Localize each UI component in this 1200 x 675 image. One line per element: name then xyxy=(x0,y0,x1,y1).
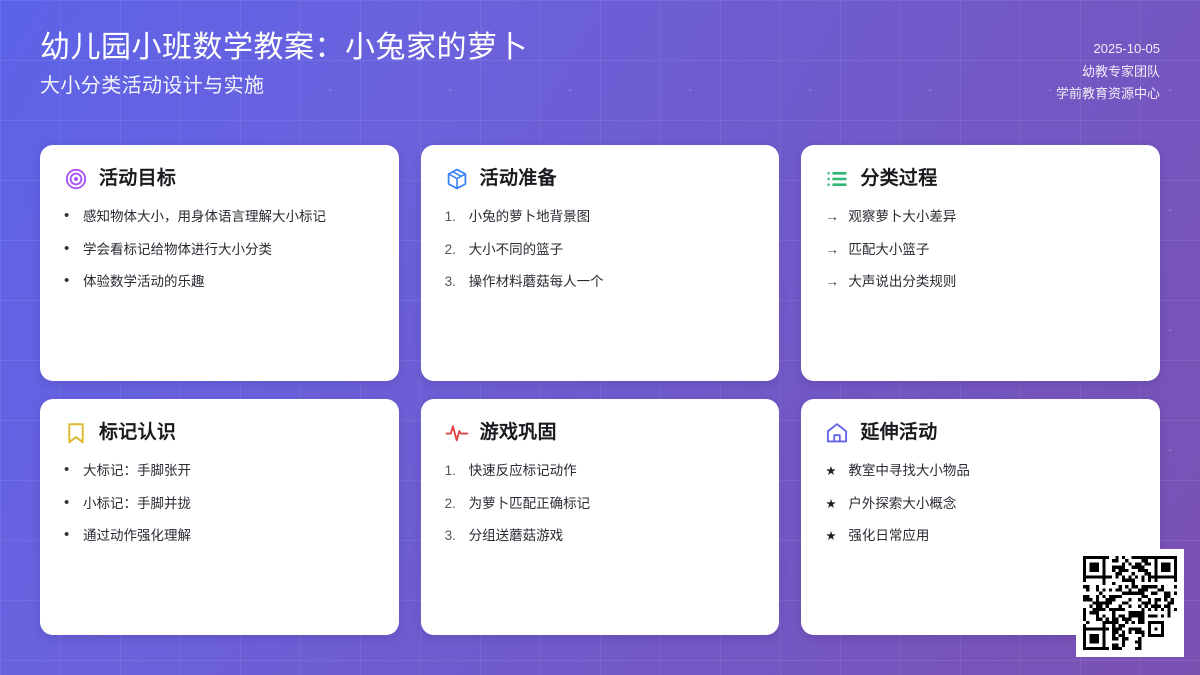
card-item-list: ★ 教室中寻找大小物品 ★ 户外探索大小概念 ★ 强化日常应用 xyxy=(825,461,1136,546)
card-classification-process[interactable]: 分类过程 → 观察萝卜大小差异 → 匹配大小篮子 → 大声说出分类规则 xyxy=(801,145,1160,381)
card-item-list: → 观察萝卜大小差异 → 匹配大小篮子 → 大声说出分类规则 xyxy=(825,207,1136,292)
bullet-marker: • xyxy=(64,462,74,477)
header-meta: 2025-10-05 幼教专家团队 学前教育资源中心 xyxy=(1056,28,1160,103)
card-header: 活动准备 xyxy=(445,167,756,191)
list-item-text: 学会看标记给物体进行大小分类 xyxy=(83,240,375,260)
list-item-text: 观察萝卜大小差异 xyxy=(848,207,1136,227)
list-item-text: 小标记：手脚并拢 xyxy=(83,494,375,514)
bullet-marker: → xyxy=(825,207,839,227)
list-item: 3. 分组送蘑菇游戏 xyxy=(445,526,756,546)
list-item: • 大标记：手脚张开 xyxy=(64,461,375,481)
bullet-marker: • xyxy=(64,527,74,542)
list-item-text: 教室中寻找大小物品 xyxy=(848,461,1136,481)
card-game-consolidation[interactable]: 游戏巩固 1. 快速反应标记动作 2. 为萝卜匹配正确标记 3. 分组送蘑菇游戏 xyxy=(421,399,780,635)
meta-date: 2025-10-05 xyxy=(1094,40,1161,58)
title-block: 幼儿园小班数学教案：小兔家的萝卜 大小分类活动设计与实施 xyxy=(40,28,528,99)
list-item-text: 户外探索大小概念 xyxy=(848,494,1136,514)
list-item: • 学会看标记给物体进行大小分类 xyxy=(64,240,375,260)
list-item: → 匹配大小篮子 xyxy=(825,240,1136,260)
list-item: • 小标记：手脚并拢 xyxy=(64,494,375,514)
bullet-marker: 2. xyxy=(445,240,460,260)
list-item-text: 大声说出分类规则 xyxy=(848,272,1136,292)
bullet-marker: 1. xyxy=(445,461,460,481)
bullet-marker: ★ xyxy=(825,462,839,480)
card-activity-preparation[interactable]: 活动准备 1. 小兔的萝卜地背景图 2. 大小不同的篮子 3. 操作材料蘑菇每人… xyxy=(421,145,780,381)
bullet-marker: 1. xyxy=(445,207,460,227)
bullet-marker: → xyxy=(825,272,839,292)
bullet-marker: → xyxy=(825,240,839,260)
list-item: 2. 大小不同的篮子 xyxy=(445,240,756,260)
card-item-list: 1. 快速反应标记动作 2. 为萝卜匹配正确标记 3. 分组送蘑菇游戏 xyxy=(445,461,756,546)
card-item-list: • 大标记：手脚张开 • 小标记：手脚并拢 • 通过动作强化理解 xyxy=(64,461,375,546)
card-header: 分类过程 xyxy=(825,167,1136,191)
card-header: 延伸活动 xyxy=(825,421,1136,445)
list-item-text: 大标记：手脚张开 xyxy=(83,461,375,481)
list-item: • 体验数学活动的乐趣 xyxy=(64,272,375,292)
slide-header: 幼儿园小班数学教案：小兔家的萝卜 大小分类活动设计与实施 2025-10-05 … xyxy=(0,0,1200,132)
activity-pulse-icon xyxy=(445,421,469,445)
card-header: 标记认识 xyxy=(64,421,375,445)
list-item-text: 感知物体大小，用身体语言理解大小标记 xyxy=(83,207,375,227)
card-header: 活动目标 xyxy=(64,167,375,191)
list-item: ★ 户外探索大小概念 xyxy=(825,494,1136,514)
card-item-list: 1. 小兔的萝卜地背景图 2. 大小不同的篮子 3. 操作材料蘑菇每人一个 xyxy=(445,207,756,292)
list-item-text: 通过动作强化理解 xyxy=(83,526,375,546)
card-title: 分类过程 xyxy=(860,168,937,191)
list-item: • 通过动作强化理解 xyxy=(64,526,375,546)
list-item: → 观察萝卜大小差异 xyxy=(825,207,1136,227)
card-title: 标记认识 xyxy=(99,422,176,445)
bullet-marker: ★ xyxy=(825,527,839,545)
page-title: 幼儿园小班数学教案：小兔家的萝卜 xyxy=(40,28,528,67)
card-item-list: • 感知物体大小，用身体语言理解大小标记 • 学会看标记给物体进行大小分类 • … xyxy=(64,207,375,292)
list-item-text: 体验数学活动的乐趣 xyxy=(83,272,375,292)
card-title: 游戏巩固 xyxy=(480,422,557,445)
bullet-marker: 3. xyxy=(445,526,460,546)
card-title: 延伸活动 xyxy=(860,422,937,445)
bullet-marker: • xyxy=(64,208,74,223)
page-subtitle: 大小分类活动设计与实施 xyxy=(40,73,528,99)
list-item-text: 快速反应标记动作 xyxy=(469,461,756,481)
card-header: 游戏巩固 xyxy=(445,421,756,445)
list-item: • 感知物体大小，用身体语言理解大小标记 xyxy=(64,207,375,227)
package-icon xyxy=(445,167,469,191)
bookmark-icon xyxy=(64,421,88,445)
list-item: 1. 小兔的萝卜地背景图 xyxy=(445,207,756,227)
list-icon xyxy=(825,167,849,191)
list-item-text: 大小不同的篮子 xyxy=(469,240,756,260)
list-item-text: 强化日常应用 xyxy=(848,526,1136,546)
list-item-text: 匹配大小篮子 xyxy=(848,240,1136,260)
target-icon xyxy=(64,167,88,191)
list-item-text: 小兔的萝卜地背景图 xyxy=(469,207,756,227)
list-item: ★ 强化日常应用 xyxy=(825,526,1136,546)
bullet-marker: • xyxy=(64,273,74,288)
bullet-marker: • xyxy=(64,241,74,256)
list-item: 1. 快速反应标记动作 xyxy=(445,461,756,481)
bullet-marker: 2. xyxy=(445,494,460,514)
bullet-marker: • xyxy=(64,495,74,510)
card-title: 活动目标 xyxy=(99,168,176,191)
slide-root: 幼儿园小班数学教案：小兔家的萝卜 大小分类活动设计与实施 2025-10-05 … xyxy=(0,0,1200,675)
card-marker-recognition[interactable]: 标记认识 • 大标记：手脚张开 • 小标记：手脚并拢 • 通过动作强化理解 xyxy=(40,399,399,635)
card-title: 活动准备 xyxy=(480,168,557,191)
qr-code[interactable] xyxy=(1076,549,1184,657)
bullet-marker: 3. xyxy=(445,272,460,292)
list-item-text: 分组送蘑菇游戏 xyxy=(469,526,756,546)
list-item-text: 操作材料蘑菇每人一个 xyxy=(469,272,756,292)
meta-author: 幼教专家团队 xyxy=(1082,63,1160,81)
list-item: → 大声说出分类规则 xyxy=(825,272,1136,292)
list-item: ★ 教室中寻找大小物品 xyxy=(825,461,1136,481)
list-item: 2. 为萝卜匹配正确标记 xyxy=(445,494,756,514)
card-activity-goals[interactable]: 活动目标 • 感知物体大小，用身体语言理解大小标记 • 学会看标记给物体进行大小… xyxy=(40,145,399,381)
card-grid: 活动目标 • 感知物体大小，用身体语言理解大小标记 • 学会看标记给物体进行大小… xyxy=(40,145,1160,635)
list-item-text: 为萝卜匹配正确标记 xyxy=(469,494,756,514)
meta-org: 学前教育资源中心 xyxy=(1056,85,1160,103)
bullet-marker: ★ xyxy=(825,495,839,513)
qr-code-image xyxy=(1083,556,1177,650)
home-icon xyxy=(825,421,849,445)
list-item: 3. 操作材料蘑菇每人一个 xyxy=(445,272,756,292)
